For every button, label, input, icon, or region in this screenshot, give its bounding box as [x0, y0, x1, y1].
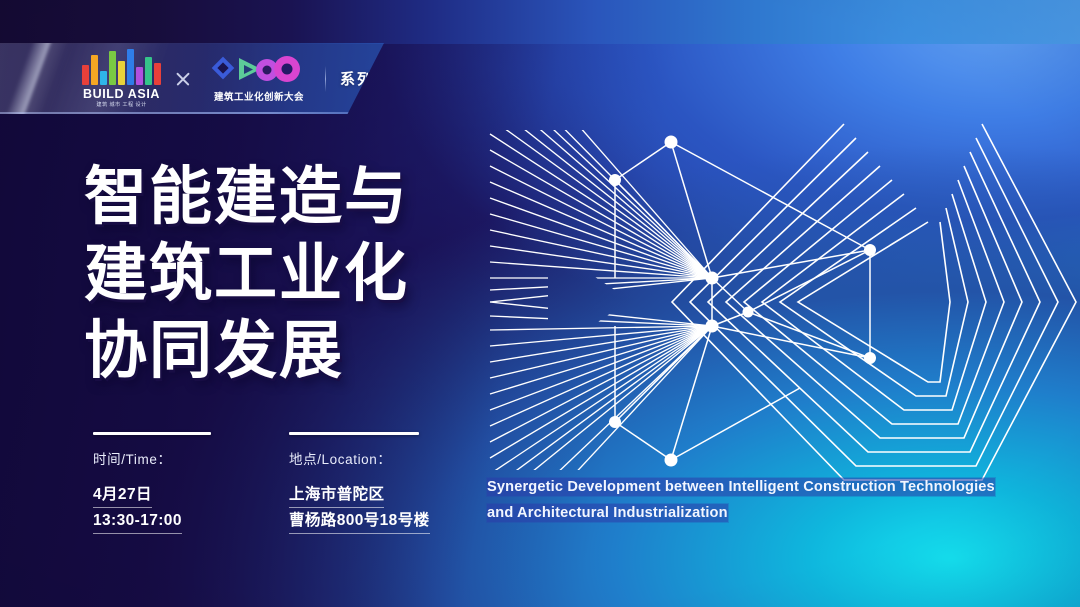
english-subtitle: Synergetic Development between Intellige… [487, 474, 1017, 526]
poster-canvas: BUILD ASIA 建筑 城市 工程 设计 [0, 0, 1080, 607]
title-line-2: 建筑工业化 [84, 235, 484, 312]
x-separator-icon [163, 59, 203, 99]
header-divider [325, 66, 326, 92]
network-nodes [609, 136, 876, 467]
info-time-date: 4月27日 [93, 484, 152, 508]
info-location-address: 曹杨路800号18号楼 [289, 510, 430, 534]
network-edges [615, 142, 870, 460]
event-info: 时间/Time： 4月27日 13:30-17:00 地点/Location： … [93, 432, 430, 536]
info-location-label: 地点/Location： [289, 448, 430, 468]
info-time-hours: 13:30-17:00 [93, 510, 182, 534]
build-asia-subtitle: 建筑 城市 工程 设计 [82, 103, 161, 108]
info-time: 时间/Time： 4月27日 13:30-17:00 [93, 432, 211, 536]
info-rule [93, 432, 211, 435]
info-rule [289, 432, 419, 435]
build-asia-logo[interactable]: BUILD ASIA 建筑 城市 工程 设计 [82, 49, 161, 108]
chevron-layers [672, 124, 1076, 480]
conference-name: 建筑工业化创新大会 [205, 93, 313, 103]
header-ribbon: BUILD ASIA 建筑 城市 工程 设计 [0, 43, 384, 114]
info-location: 地点/Location： 上海市普陀区 曹杨路800号18号楼 [289, 432, 430, 536]
info-time-label: 时间/Time： [93, 448, 211, 468]
title-line-3: 协同发展 [84, 312, 484, 389]
info-location-district: 上海市普陀区 [289, 484, 384, 508]
network-arrow-graphic [470, 130, 1070, 470]
build-asia-bar-icon [82, 49, 161, 85]
build-asia-name: BUILD ASIA [82, 88, 161, 101]
conference-mark-icon [205, 54, 313, 90]
english-subtitle-text: Synergetic Development between Intellige… [487, 478, 995, 522]
title-line-1: 智能建造与 [84, 158, 484, 235]
conference-logo[interactable]: 建筑工业化创新大会 [205, 54, 313, 103]
main-title: 智能建造与 建筑工业化 协同发展 [84, 158, 484, 389]
